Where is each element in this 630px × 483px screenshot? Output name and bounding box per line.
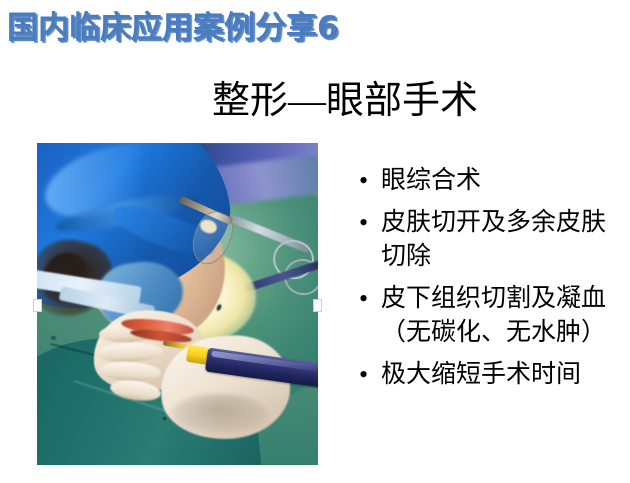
bullet-text: 极大缩短手术时间 [381,358,624,392]
surgery-photo-object[interactable] [37,143,318,465]
bullet-text: 眼综合术 [381,164,624,198]
list-item: • 眼综合术 [356,164,624,198]
bullet-marker-icon: • [356,164,381,198]
bullet-text: 皮下组织切割及凝血（无碳化、无水肿） [381,282,624,350]
surgery-photo[interactable] [37,143,318,465]
list-item: • 皮肤切开及多余皮肤切除 [356,206,624,274]
bullet-marker-icon: • [356,206,381,240]
list-item: • 极大缩短手术时间 [356,358,624,392]
page-title: 整形—眼部手术 [170,78,520,124]
header-banner: 国内临床应用案例分享6 [7,6,427,52]
bullet-text: 皮肤切开及多余皮肤切除 [381,206,624,274]
photo-layer-hand-shadow [172,394,268,433]
selection-handle-right[interactable] [313,299,322,312]
bullet-marker-icon: • [356,282,381,316]
bullet-marker-icon: • [356,358,381,392]
selection-handle-left[interactable] [33,299,42,312]
bullet-list: • 眼综合术 • 皮肤切开及多余皮肤切除 • 皮下组织切割及凝血（无碳化、无水肿… [356,164,624,400]
header-title: 国内临床应用案例分享6 [7,6,427,50]
list-item: • 皮下组织切割及凝血（无碳化、无水肿） [356,282,624,350]
slide: 国内临床应用案例分享6 整形—眼部手术 [0,0,630,483]
